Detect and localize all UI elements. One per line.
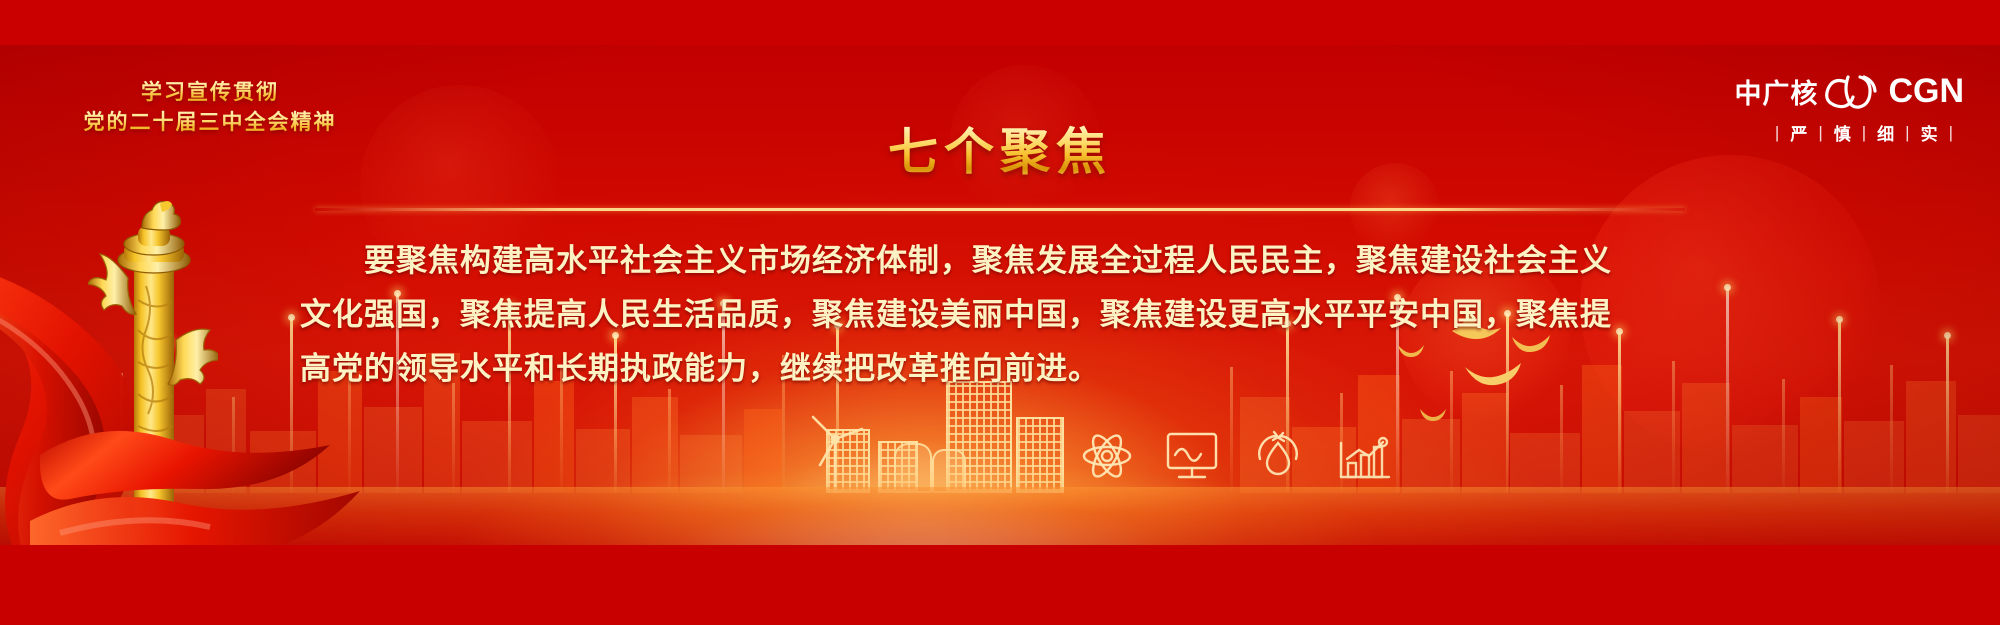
body-line-3: 高党的领导水平和长期执政能力，继续把改革推向前进。 [300,342,1700,396]
page-title-text: 七个聚焦 [888,124,1112,180]
body-line-1: 要聚焦构建高水平社会主义市场经济体制，聚焦发展全过程人民民主，聚焦建设社会主义 [300,234,1700,288]
logo-wordmark-row: 中广核 CGN [1734,72,1964,111]
logo-english-name: CGN [1888,72,1964,111]
cgn-swirl-icon [1824,73,1882,111]
page-title: 七个聚焦 [0,112,2000,184]
promotional-banner: 学习宣传贯彻 党的二十届三中全会精神 中广核 CGN | 严 | 慎 | 细 |… [0,0,2000,625]
top-border-band [0,0,2000,45]
bottom-border-band [0,545,2000,625]
body-line-2: 文化强国，聚焦提高人民生活品质，聚焦建设美丽中国，聚焦建设更高水平平安中国，聚焦… [300,288,1700,342]
gold-divider [315,208,1685,211]
body-paragraph: 要聚焦构建高水平社会主义市场经济体制，聚焦发展全过程人民民主，聚焦建设社会主义 … [300,234,1700,396]
slogan-line-1: 学习宣传贯彻 [60,78,360,108]
red-silk-ribbon-lower [30,425,360,545]
logo-chinese-name: 中广核 [1734,72,1818,111]
